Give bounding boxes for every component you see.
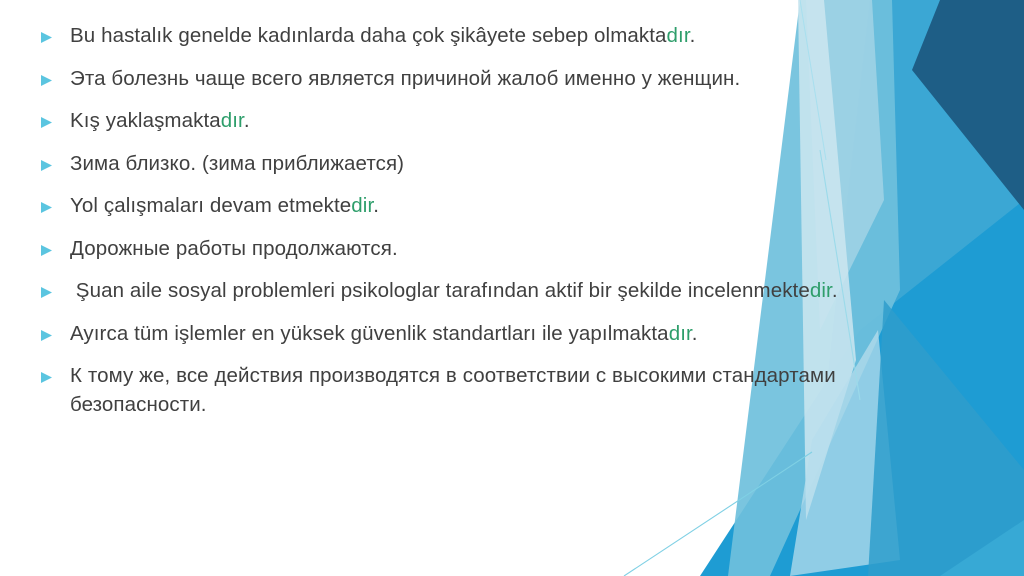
decor-shape-pale-bottom-corner bbox=[940, 520, 1024, 576]
list-item-text: Kış yaklaşmaktadır. bbox=[70, 107, 898, 136]
list-item-suffix: dir bbox=[351, 194, 373, 217]
decor-shape-navy-top bbox=[905, 0, 1024, 300]
list-item-text: Ayırca tüm işlemler en yüksek güvenlik s… bbox=[70, 320, 898, 349]
list-item-text-main: Şuan aile sosyal problemleri psikologlar… bbox=[70, 279, 810, 302]
list-item-text-main: Bu hastalık genelde kadınlarda daha çok … bbox=[70, 24, 667, 47]
list-item-suffix: dır bbox=[667, 24, 690, 47]
list-item-text: К тому же, все действия производятся в с… bbox=[70, 362, 898, 419]
triangle-bullet-icon bbox=[40, 362, 70, 384]
slide-canvas: Bu hastalık genelde kadınlarda daha çok … bbox=[0, 0, 1024, 576]
triangle-bullet-icon bbox=[40, 22, 70, 44]
triangle-bullet-icon bbox=[40, 107, 70, 129]
triangle-bullet-icon bbox=[40, 150, 70, 172]
list-item-text: Yol çalışmaları devam etmektedir. bbox=[70, 192, 898, 221]
list-item: Дорожные работы продолжаются. bbox=[40, 235, 898, 264]
list-item-suffix: dir bbox=[810, 279, 832, 302]
triangle-bullet-icon bbox=[40, 320, 70, 342]
list-item-text-main: Эта болезнь чаще всего является причиной… bbox=[70, 67, 740, 90]
list-item-text: Зима близко. (зима приближается) bbox=[70, 150, 898, 179]
list-item-text-main: Yol çalışmaları devam etmekte bbox=[70, 194, 351, 217]
list-item-text-main: Ayırca tüm işlemler en yüksek güvenlik s… bbox=[70, 322, 669, 345]
list-item: Ayırca tüm işlemler en yüksek güvenlik s… bbox=[40, 320, 898, 349]
list-item-text: Şuan aile sosyal problemleri psikologlar… bbox=[70, 277, 898, 306]
triangle-bullet-icon bbox=[40, 65, 70, 87]
list-item: Kış yaklaşmaktadır. bbox=[40, 107, 898, 136]
list-item: Эта болезнь чаще всего является причиной… bbox=[40, 65, 898, 94]
list-item-suffix: dır bbox=[669, 322, 692, 345]
list-item-text: Дорожные работы продолжаются. bbox=[70, 235, 898, 264]
triangle-bullet-icon bbox=[40, 235, 70, 257]
bullet-list: Bu hastalık genelde kadınlarda daha çok … bbox=[40, 22, 898, 433]
list-item: Зима близко. (зима приближается) bbox=[40, 150, 898, 179]
list-item-text-main: Зима близко. (зима приближается) bbox=[70, 152, 404, 175]
decor-shape-deepnavy-accent bbox=[912, 0, 1024, 210]
list-item-text-tail: . bbox=[692, 322, 698, 345]
list-item-text-tail: . bbox=[244, 109, 250, 132]
list-item: Şuan aile sosyal problemleri psikologlar… bbox=[40, 277, 898, 306]
list-item: К тому же, все действия производятся в с… bbox=[40, 362, 898, 419]
decor-hairline-diagonal-lower bbox=[624, 452, 812, 576]
decor-shape-steel-upper bbox=[880, 0, 1024, 250]
triangle-bullet-icon bbox=[40, 192, 70, 214]
list-item: Bu hastalık genelde kadınlarda daha çok … bbox=[40, 22, 898, 51]
list-item-text-main: Дорожные работы продолжаются. bbox=[70, 237, 398, 260]
list-item-text-tail: . bbox=[832, 279, 838, 302]
list-item-text-tail: . bbox=[373, 194, 379, 217]
list-item-text-main: К тому же, все действия производятся в с… bbox=[70, 364, 842, 416]
list-item: Yol çalışmaları devam etmektedir. bbox=[40, 192, 898, 221]
triangle-bullet-icon bbox=[40, 277, 70, 299]
list-item-text: Bu hastalık genelde kadınlarda daha çok … bbox=[70, 22, 898, 51]
list-item-text: Эта болезнь чаще всего является причиной… bbox=[70, 65, 898, 94]
list-item-text-tail: . bbox=[690, 24, 696, 47]
list-item-text-main: Kış yaklaşmakta bbox=[70, 109, 221, 132]
list-item-suffix: dır bbox=[221, 109, 244, 132]
